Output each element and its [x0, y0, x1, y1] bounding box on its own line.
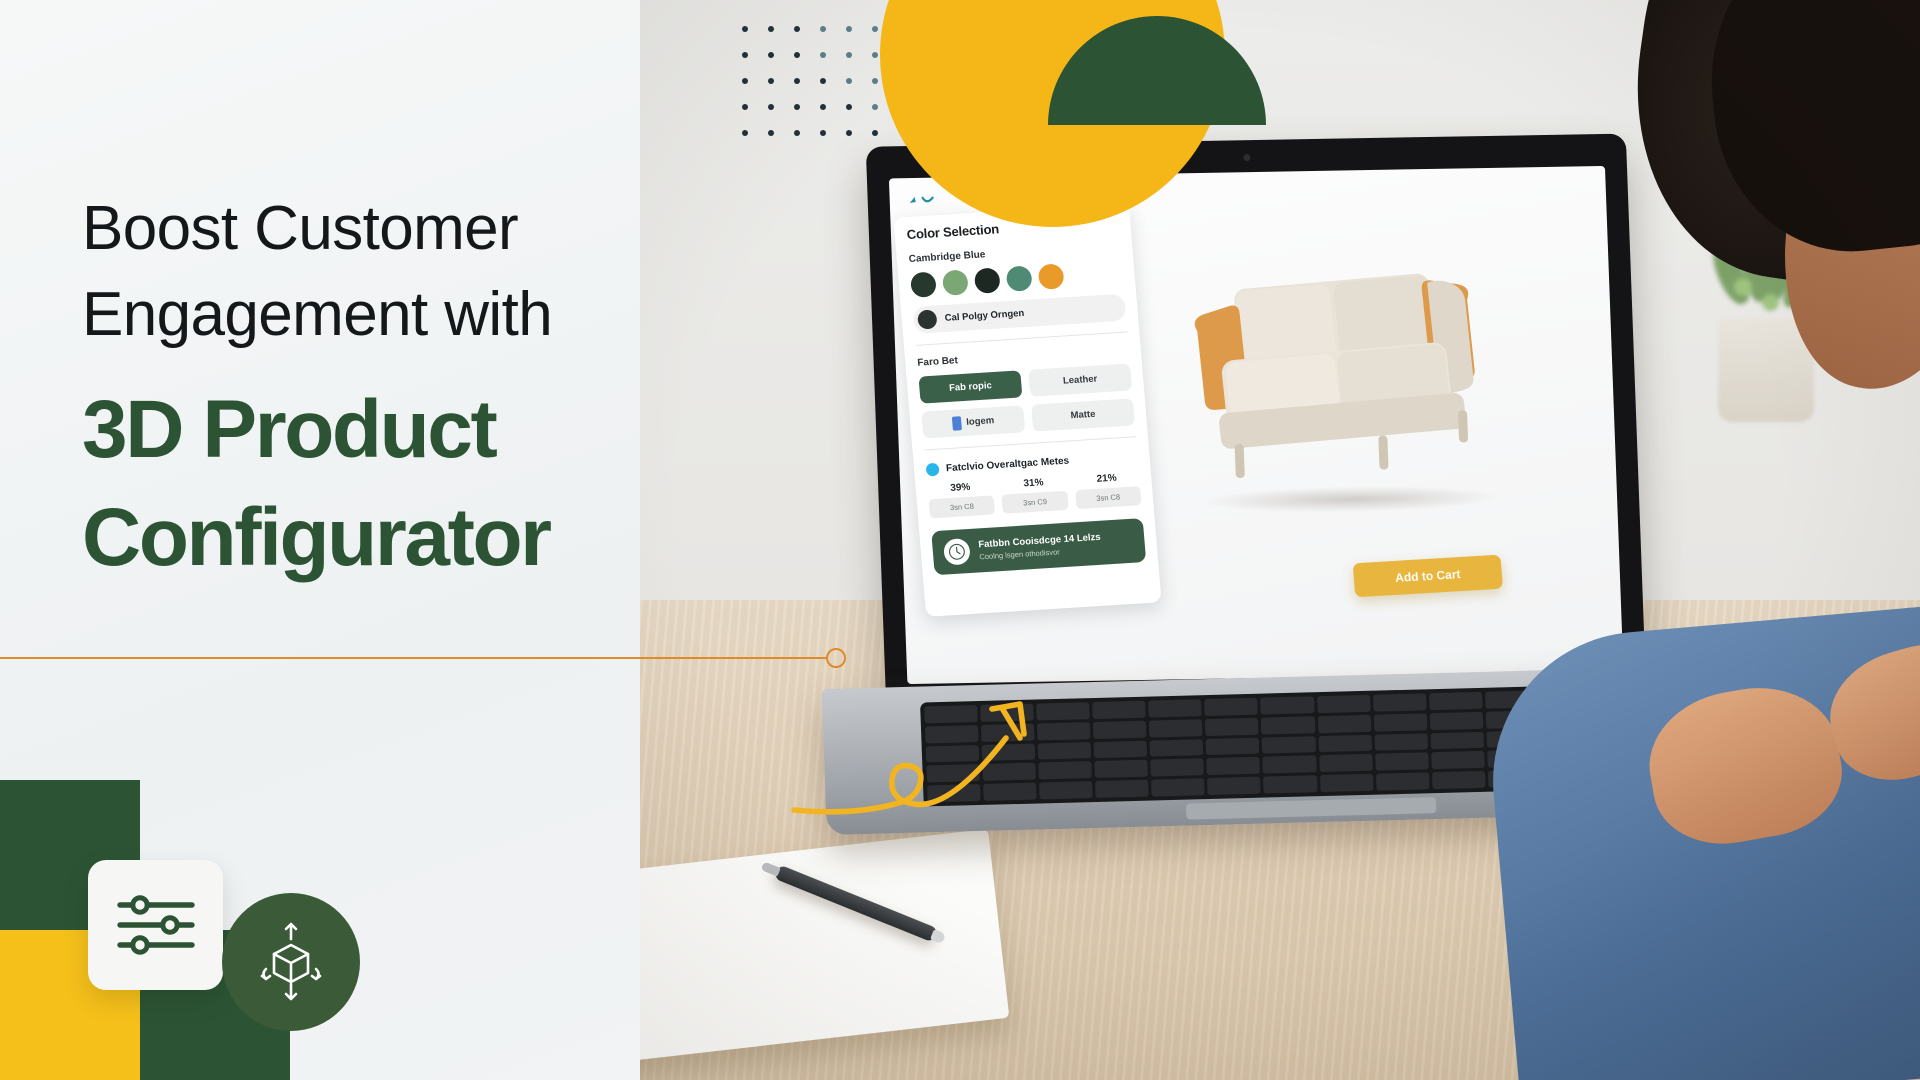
- laptop-lid: Color Selection Cambridge Blue: [866, 134, 1647, 707]
- selected-color-pill[interactable]: Cal Polgy Orngen: [913, 294, 1127, 334]
- configurator-app: Color Selection Cambridge Blue: [889, 166, 1624, 684]
- metric-caption: 3sn C8: [1075, 486, 1142, 509]
- section-divider: [916, 332, 1128, 346]
- configurator-panel: Color Selection Cambridge Blue: [893, 203, 1161, 617]
- metrics-row: 39% 3sn C8 31% 3sn C9 21% 3sn C8: [927, 471, 1141, 518]
- dot-grid-decor: [742, 26, 898, 156]
- cube-badge: [222, 893, 360, 1031]
- finish-option-fabric[interactable]: Fab ropic: [918, 370, 1022, 403]
- metric-caption: 3sn C8: [929, 495, 996, 518]
- swatch-amber-orange[interactable]: [1038, 263, 1065, 290]
- rule-line: [0, 657, 828, 659]
- laptop-screen: Color Selection Cambridge Blue: [889, 166, 1624, 684]
- headline-line-2: Engagement with: [82, 272, 882, 358]
- orange-divider-rule: [0, 646, 846, 670]
- sliders-icon: [114, 891, 198, 959]
- trackpad[interactable]: [1186, 797, 1437, 820]
- finish-option-iogem[interactable]: Iogem: [921, 405, 1025, 438]
- metrics-divider: [924, 436, 1136, 450]
- sliders-badge: [88, 860, 223, 990]
- selected-color-label: Cal Polgy Orngen: [944, 308, 1024, 324]
- finish-option-row-2: Iogem Matte: [921, 398, 1135, 438]
- brand-logo-icon: [907, 193, 944, 208]
- selected-color-dot: [917, 309, 938, 329]
- webcam-icon: [1243, 154, 1250, 161]
- finish-option-leather[interactable]: Leather: [1028, 363, 1132, 396]
- color-swatch-row[interactable]: [910, 260, 1123, 298]
- swatch-teal-green[interactable]: [1006, 265, 1033, 292]
- metric-value: 31%: [1000, 476, 1066, 491]
- metrics-title: Fatclvio Overaltgac Metes: [946, 456, 1070, 475]
- add-to-cart-button[interactable]: Add to Cart: [1353, 555, 1503, 598]
- headline-line-3: 3D Product: [82, 376, 882, 484]
- info-banner-text: Fatbbn Cooisdcge 14 Lelzs Coolng lsgen o…: [978, 532, 1102, 562]
- metric-value: 39%: [927, 480, 993, 495]
- 3d-cube-rotate-icon: [250, 921, 332, 1003]
- headline-block: Boost Customer Engagement with 3D Produc…: [82, 186, 882, 592]
- metric-item: 39% 3sn C8: [927, 480, 995, 518]
- rule-end-dot-icon: [826, 648, 846, 668]
- growth-arrow-decor: [790, 690, 1050, 830]
- metric-item: 21% 3sn C8: [1074, 471, 1142, 509]
- metric-caption: 3sn C9: [1002, 491, 1069, 514]
- headline-line-1: Boost Customer: [82, 186, 882, 272]
- swatch-dark-forest[interactable]: [910, 271, 937, 298]
- curved-growth-arrow-icon: [790, 690, 1050, 830]
- swatch-sage-green[interactable]: [942, 269, 969, 296]
- metric-value: 21%: [1074, 471, 1140, 486]
- metrics-status-icon: [926, 463, 940, 477]
- finish-option-iogem-label: Iogem: [966, 415, 995, 428]
- info-banner[interactable]: Fatbbn Cooisdcge 14 Lelzs Coolng lsgen o…: [931, 518, 1146, 575]
- finish-option-matte[interactable]: Matte: [1031, 398, 1135, 431]
- metric-item: 31% 3sn C9: [1000, 476, 1068, 514]
- finish-swatch-icon: [952, 416, 962, 431]
- product-sofa-image: [1160, 239, 1530, 505]
- headline-line-4: Configurator: [82, 484, 882, 592]
- clock-icon: [943, 538, 971, 566]
- swatch-charcoal-black[interactable]: [974, 267, 1001, 294]
- poster-canvas: Color Selection Cambridge Blue: [0, 0, 1920, 1080]
- finish-option-row-1: Fab ropic Leather: [918, 363, 1132, 403]
